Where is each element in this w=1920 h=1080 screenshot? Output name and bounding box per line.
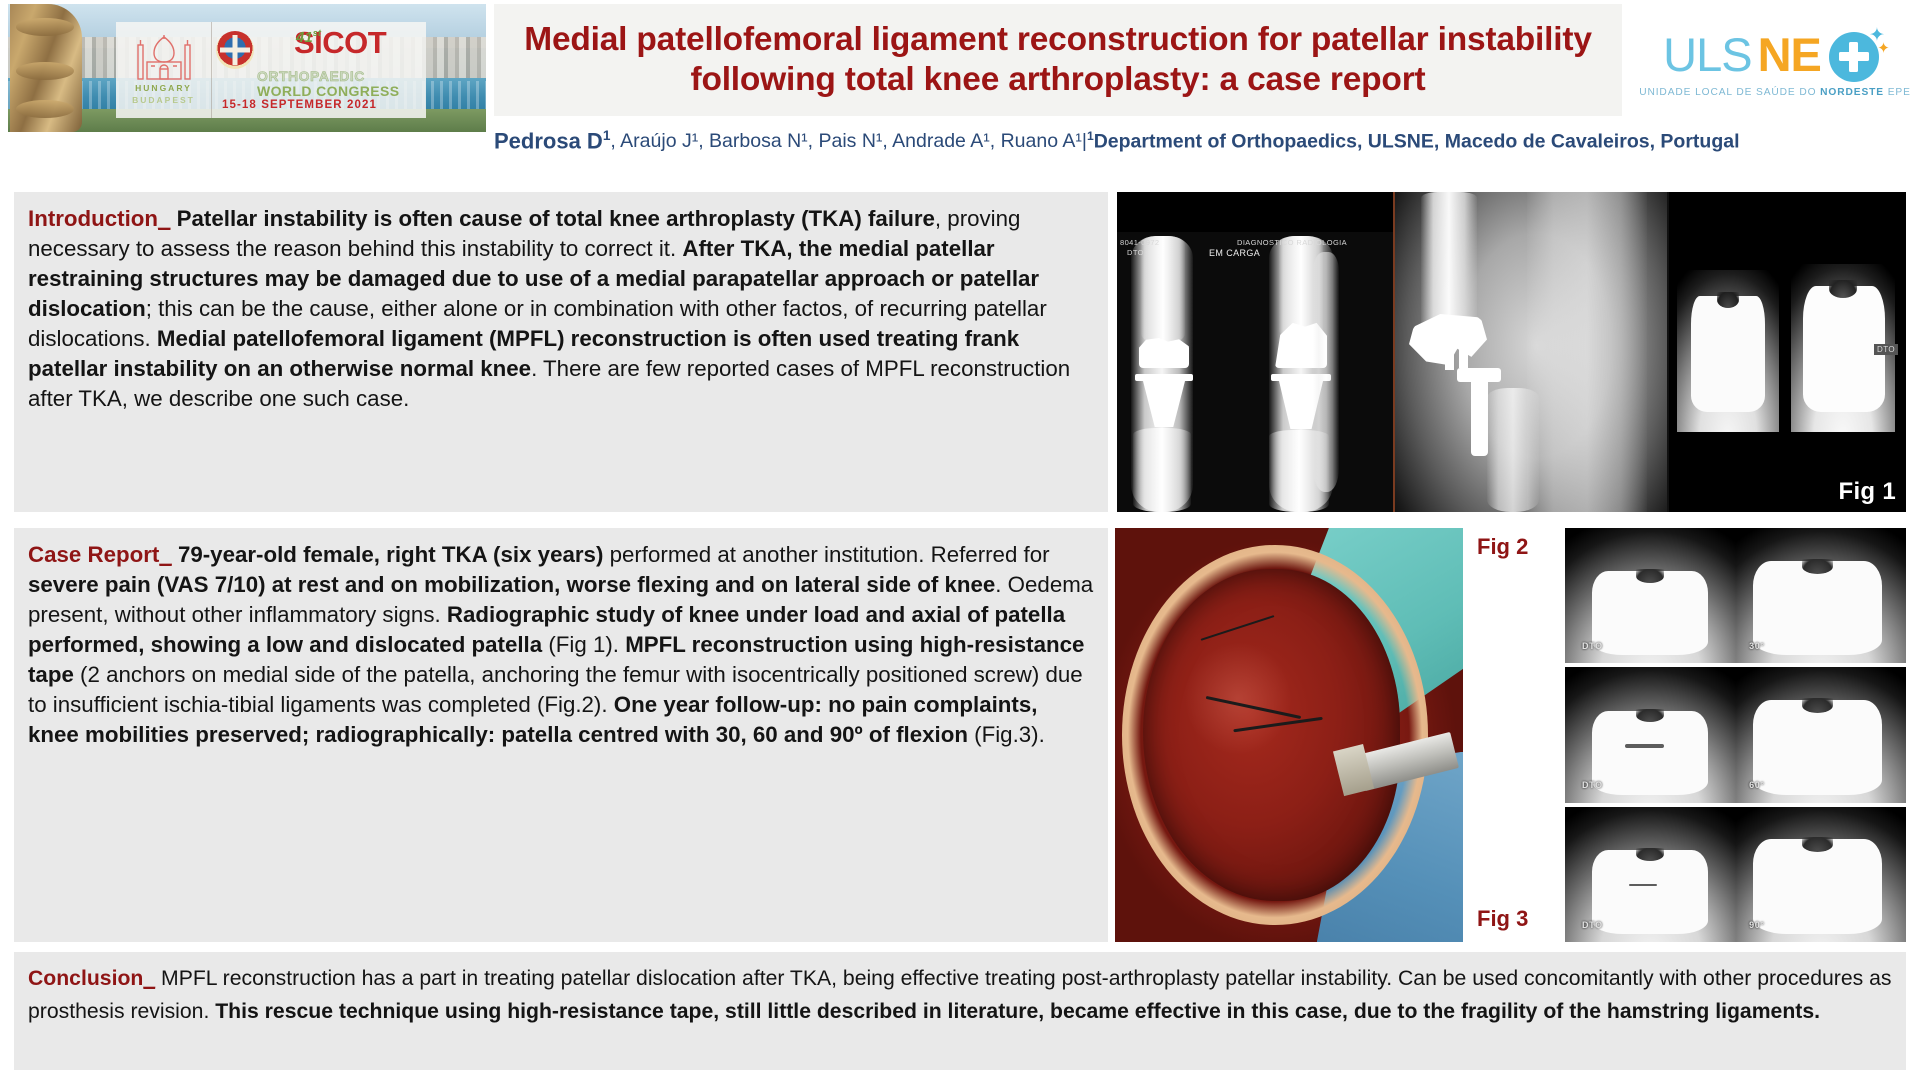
congress-dates: 15-18 SEPTEMBER 2021 (222, 99, 426, 111)
xray-axial-patella: DTO Fig 1 (1667, 192, 1906, 512)
axial-90-right: 90° (1736, 807, 1907, 942)
axial-label-angle-60: 60° (1749, 780, 1764, 790)
logo-cross (1839, 42, 1869, 72)
axial-row-30: DTO 30° (1565, 528, 1906, 663)
axial-label-dto-60: DTO (1582, 780, 1603, 790)
axial-label-angle-30: 30° (1749, 641, 1764, 651)
high-resistance-tape-marker (1625, 744, 1664, 748)
conclusion-text: Conclusion_ MPFL reconstruction has a pa… (28, 962, 1892, 1028)
ulsne-logo: ULS NE ✦ ✦ UNIDADE LOCAL DE SAÚDE DO NOR… (1636, 8, 1914, 116)
case-report-label: Case Report_ (28, 542, 172, 567)
statue-ring-mid (16, 62, 74, 80)
xray-label-header: DIAGNOSTICO RADIOLOGIA (1237, 238, 1347, 247)
conclusion-label: Conclusion_ (28, 967, 155, 990)
axial-60-left: DTO (1565, 667, 1736, 802)
medical-cross-icon: ✦ ✦ (1827, 26, 1887, 84)
axial-row-60: DTO 60° (1565, 667, 1906, 802)
figure-2-caption: Fig 2 (1477, 534, 1528, 560)
introduction-label: Introduction_ (28, 206, 170, 231)
axial-row-90: DTO 90° (1565, 807, 1906, 942)
title-block: Medial patellofemoral ligament reconstru… (494, 4, 1622, 116)
ulsne-tagline: UNIDADE LOCAL DE SAÚDE DO NORDESTE EPE (1639, 87, 1911, 98)
xray-label-em-carga: EM CARGA (1209, 248, 1260, 258)
figure-1-radiographs: 8041-0972 DTO EM CARGA DIAGNOSTICO RADIO… (1117, 192, 1906, 512)
congress-edition: 41st (296, 28, 321, 46)
axial-label-angle-90: 90° (1749, 920, 1764, 930)
axial-60-right: 60° (1736, 667, 1907, 802)
sicot-emblem-icon (216, 31, 254, 69)
affiliation: 1Department of Orthopaedics, ULSNE, Mace… (1087, 129, 1740, 154)
congress-subtitle-1: ORTHOPAEDIC (257, 69, 426, 84)
ulsne-wordmark: ULS NE ✦ ✦ (1663, 27, 1887, 83)
patella-implant (1592, 711, 1708, 795)
introduction-text: Introduction_ Patellar instability is of… (28, 204, 1094, 414)
statue-ring-bottom (16, 100, 74, 118)
patella-implant (1592, 850, 1708, 934)
high-resistance-tape-marker (1629, 884, 1657, 887)
xray-label-dto-ap: DTO (1127, 248, 1144, 257)
axial-90-left: DTO (1565, 807, 1736, 942)
lead-author: Pedrosa D1 (494, 128, 610, 154)
case-report-section: Case Report_ 79-year-old female, right T… (14, 528, 1108, 942)
sicot-block: 41st SICOT ORTHOPAEDIC WORLD CONGRESS 15… (212, 22, 426, 118)
star-icon-orange: ✦ (1877, 41, 1890, 56)
banner-country-label: HUNGARY (135, 83, 192, 93)
poster-root: HUNGARY BUDAPEST 41st SICOT ORTHOPAEDIC … (0, 0, 1920, 1080)
authors-line: Pedrosa D1 , Araújo J¹, Barbosa N¹, Pais… (494, 122, 1914, 160)
ulsne-uls-text: ULS (1663, 31, 1751, 78)
axial-label-dto-30: DTO (1582, 641, 1603, 651)
surgical-wound (1143, 569, 1401, 900)
patella-implant-lateral (1753, 839, 1883, 934)
ulsne-ne-text: NE (1758, 31, 1821, 78)
congress-logo-plate: HUNGARY BUDAPEST 41st SICOT ORTHOPAEDIC … (116, 22, 426, 118)
poster-header: HUNGARY BUDAPEST 41st SICOT ORTHOPAEDIC … (0, 0, 1920, 182)
figure-3-axial-series: DTO 30° DTO 60° (1565, 528, 1906, 942)
xray-label-id: 8041-0972 (1120, 238, 1159, 247)
banner-city-label: BUDAPEST (132, 95, 195, 105)
patella-implant-lateral (1753, 561, 1883, 656)
statue-ring-top (16, 18, 74, 36)
figure-1-caption: Fig 1 (1838, 478, 1896, 506)
budapest-block: HUNGARY BUDAPEST (116, 22, 212, 118)
axial-30-right: 30° (1736, 528, 1907, 663)
xray-ap-both-knees: 8041-0972 DTO EM CARGA DIAGNOSTICO RADIO… (1117, 192, 1393, 512)
conclusion-section: Conclusion_ MPFL reconstruction has a pa… (14, 952, 1906, 1070)
banner-statue (10, 4, 82, 132)
figure-3-caption: Fig 3 (1477, 906, 1528, 932)
sicot-congress-banner: HUNGARY BUDAPEST 41st SICOT ORTHOPAEDIC … (8, 4, 486, 132)
patella-implant-lateral (1753, 700, 1883, 795)
introduction-section: Introduction_ Patellar instability is of… (14, 192, 1108, 512)
congress-subtitle-2: WORLD CONGRESS (257, 84, 426, 99)
case-report-text: Case Report_ 79-year-old female, right T… (28, 540, 1094, 750)
figure-2-intraoperative-photo (1115, 528, 1463, 942)
patella-implant (1592, 571, 1708, 655)
basilica-icon (133, 35, 195, 81)
xray-corner-marker: DTO (1874, 344, 1898, 355)
page-title: Medial patellofemoral ligament reconstru… (513, 20, 1603, 100)
axial-30-left: DTO (1565, 528, 1736, 663)
wound-highlight (1184, 642, 1292, 755)
sicot-title-row: 41st SICOT (216, 29, 426, 69)
coauthors: , Araújo J¹, Barbosa N¹, Pais N¹, Andrad… (610, 130, 1081, 153)
xray-lateral-knee (1393, 192, 1667, 512)
axial-label-dto-90: DTO (1582, 920, 1603, 930)
